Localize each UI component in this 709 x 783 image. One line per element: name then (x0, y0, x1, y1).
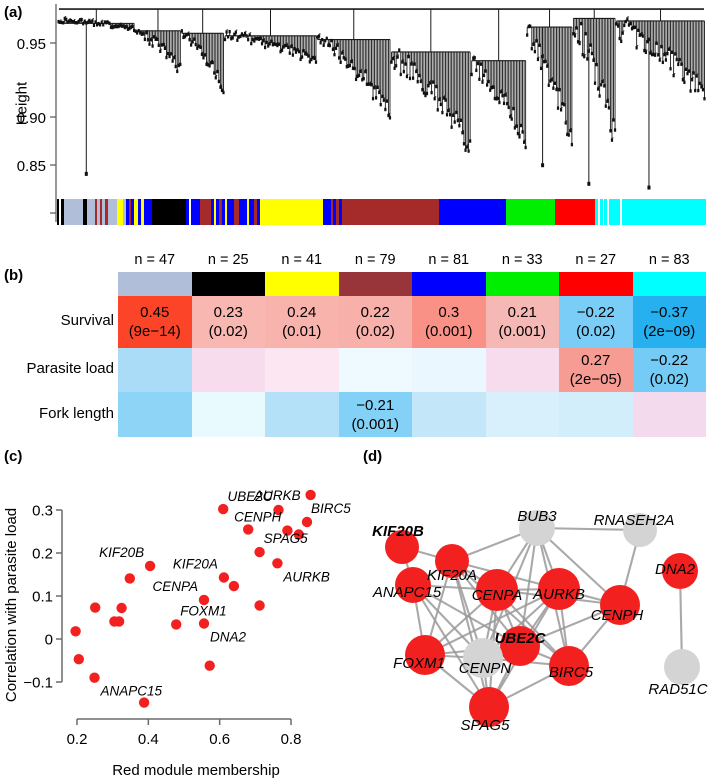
heatmap-cell-pvalue: (0.001) (498, 322, 546, 341)
heatmap-cell[interactable] (486, 392, 560, 437)
heatmap-cell[interactable]: 0.22(0.02) (339, 296, 413, 348)
scatter-gene-label: CENPA (152, 579, 198, 594)
heatmap-row-label: Survival (2, 312, 114, 329)
network-node-label: AURKB (532, 586, 585, 603)
heatmap-cell[interactable] (192, 348, 266, 392)
scatter-point[interactable] (171, 619, 181, 629)
module-color-segment (227, 199, 234, 225)
scatter-point[interactable] (114, 616, 124, 626)
module-color-bar (57, 199, 706, 225)
scatter-point[interactable] (70, 626, 80, 636)
heatmap-column-header: n = 33 (486, 250, 560, 272)
scatter-point[interactable] (229, 581, 239, 591)
heatmap-column-header: n = 47 (118, 250, 192, 272)
scatter-gene-label: FOXM1 (180, 603, 227, 618)
module-color-segment (108, 199, 118, 225)
scatter-point[interactable] (272, 558, 282, 568)
scatter-gene-label: UBE2C (227, 489, 272, 504)
heatmap-cell[interactable] (339, 348, 413, 392)
heatmap-cell[interactable]: 0.3(0.001) (412, 296, 486, 348)
scatter-point[interactable] (74, 654, 84, 664)
heatmap-cell[interactable]: −0.21(0.001) (339, 392, 413, 437)
heatmap-cell-pvalue: (0.02) (356, 322, 395, 341)
heatmap-cell[interactable]: 0.21(0.001) (486, 296, 560, 348)
heatmap-cell-correlation: −0.37 (650, 303, 688, 322)
module-color-segment (191, 199, 201, 225)
scatter-point[interactable] (90, 602, 100, 612)
heatmap-cell-correlation: 0.27 (581, 351, 610, 370)
heatmap-module-swatch-yellow (265, 272, 339, 296)
heatmap-row-label: Parasite load (2, 360, 114, 377)
heatmap-grid: 0.45(9e−14)0.23(0.02)0.24(0.01)0.22(0.02… (118, 296, 706, 437)
scatter-gene-label: KIF20B (99, 545, 144, 560)
heatmap-module-swatch-green (486, 272, 560, 296)
scatter-point[interactable] (302, 517, 312, 527)
heatmap-cell-pvalue: (0.02) (650, 370, 689, 389)
network-node-label: DNA2 (655, 561, 696, 578)
module-color-segment (260, 199, 323, 225)
heatmap-cell-correlation: −0.22 (650, 351, 688, 370)
scatter-xtick-label: 0.6 (209, 731, 230, 748)
heatmap-module-swatch-lightsteelblue (118, 272, 192, 296)
scatter-point[interactable] (243, 524, 253, 534)
heatmap-column-header: n = 79 (339, 250, 413, 272)
scatter-point[interactable] (145, 561, 155, 571)
scatter-point[interactable] (254, 547, 264, 557)
heatmap-cell[interactable]: 0.23(0.02) (192, 296, 266, 348)
network-node-label: BIRC5 (549, 664, 594, 681)
module-color-segment (200, 199, 210, 225)
scatter-point[interactable] (305, 490, 315, 500)
scatter-point[interactable] (199, 618, 209, 628)
network-node-label: CENPH (591, 607, 644, 624)
panel-c-scatter: (c) −0.100.10.20.30.20.40.60.8 AURKBUBE2… (0, 445, 355, 783)
network-node-label: FOXM1 (393, 655, 445, 672)
module-color-segment (144, 199, 152, 225)
heatmap-cell[interactable] (265, 392, 339, 437)
network-node-RAD51C[interactable] (664, 649, 700, 685)
heatmap-row: 0.27(2e−05)−0.22(0.02) (118, 348, 706, 392)
scatter-plot: −0.100.10.20.30.20.40.60.8 AURKBUBE2CBIR… (0, 445, 355, 783)
scatter-xtick-label: 0.4 (138, 731, 159, 748)
heatmap-cell-correlation: 0.45 (140, 303, 169, 322)
scatter-point[interactable] (205, 661, 215, 671)
heatmap-cell[interactable] (486, 348, 560, 392)
heatmap-cell[interactable] (265, 348, 339, 392)
heatmap-column-header: n = 25 (192, 250, 266, 272)
panel-d-network: (d) KIF20BKIF20AANAPC15CENPABUB3AURKBRNA… (355, 445, 709, 783)
heatmap-cell[interactable] (412, 392, 486, 437)
heatmap-column-headers: n = 47n = 25n = 41n = 79n = 81n = 33n = … (118, 250, 706, 272)
heatmap-cell[interactable]: −0.22(0.02) (559, 296, 633, 348)
heatmap-cell[interactable] (118, 392, 192, 437)
heatmap-cell[interactable] (192, 392, 266, 437)
heatmap-row-label: Fork length (2, 405, 114, 422)
heatmap-cell-pvalue: (0.001) (425, 322, 473, 341)
module-color-segment (609, 199, 620, 225)
network-node-label: RAD51C (648, 681, 707, 698)
heatmap-cell-pvalue: (0.02) (576, 322, 615, 341)
heatmap-cell-correlation: 0.3 (438, 303, 459, 322)
network-node-label: KIF20A (427, 567, 477, 584)
scatter-point[interactable] (218, 504, 228, 514)
heatmap-cell-pvalue: (0.01) (282, 322, 321, 341)
heatmap-row: 0.45(9e−14)0.23(0.02)0.24(0.01)0.22(0.02… (118, 296, 706, 348)
network-node-label: CENPA (472, 587, 523, 604)
scatter-gene-label: ANAPC15 (100, 684, 163, 699)
network-node-label: SPAG5 (461, 717, 511, 734)
network-node-label: UBE2C (495, 630, 547, 647)
heatmap-cell-pvalue: (2e−05) (570, 370, 622, 389)
module-color-segment (439, 199, 506, 225)
module-color-segment (323, 199, 330, 225)
heatmap-cell-correlation: 0.21 (508, 303, 537, 322)
scatter-point-labels: AURKBUBE2CBIRC5CENPHSPAG5KIF20BAURKBKIF2… (99, 488, 351, 699)
heatmap-cell[interactable] (118, 348, 192, 392)
heatmap-module-swatch-red (559, 272, 633, 296)
scatter-point[interactable] (219, 572, 229, 582)
heatmap-cell[interactable] (633, 392, 707, 437)
scatter-ytick-label: −0.1 (23, 675, 53, 692)
scatter-gene-label: DNA2 (210, 630, 247, 645)
module-color-segment (342, 199, 439, 225)
scatter-ytick-label: 0 (45, 632, 53, 649)
heatmap-module-swatch-brown (339, 272, 413, 296)
network-node-label: BUB3 (517, 508, 557, 525)
heatmap-module-swatch-cyan (633, 272, 707, 296)
heatmap-column-header: n = 41 (265, 250, 339, 272)
heatmap-cell[interactable]: 0.45(9e−14) (118, 296, 192, 348)
panel-a-y-axis (50, 4, 56, 222)
heatmap-column-header: n = 81 (412, 250, 486, 272)
scatter-xtick-label: 0.8 (281, 731, 302, 748)
heatmap-cell[interactable] (412, 348, 486, 392)
scatter-gene-label: BIRC5 (311, 501, 351, 516)
network-node-label: ANAPC15 (372, 584, 442, 601)
scatter-ytick-label: 0.2 (32, 546, 53, 563)
scatter-gene-label: CENPH (234, 510, 282, 525)
heatmap-cell-pvalue: (2e−09) (643, 322, 695, 341)
heatmap-cell-pvalue: (0.02) (209, 322, 248, 341)
heatmap-cell-correlation: −0.22 (577, 303, 615, 322)
heatmap-cell[interactable]: 0.24(0.01) (265, 296, 339, 348)
module-color-segment (87, 199, 95, 225)
heatmap-column-header: n = 83 (633, 250, 707, 272)
heatmap-module-color-row (118, 272, 706, 296)
module-color-segment (506, 199, 556, 225)
scatter-y-axis-title: Correlation with parasite load (3, 508, 20, 702)
scatter-xtick-label: 0.2 (67, 731, 88, 748)
heatmap-column-header: n = 27 (559, 250, 633, 272)
heatmap-cell-pvalue: (9e−14) (129, 322, 181, 341)
heatmap-cell[interactable]: 0.27(2e−05) (559, 348, 633, 392)
scatter-axes: −0.100.10.20.30.20.40.60.8 (23, 503, 301, 749)
scatter-gene-label: AURKB (282, 569, 330, 584)
scatter-ytick-label: 0.1 (32, 589, 53, 606)
heatmap-cell-correlation: 0.22 (361, 303, 390, 322)
heatmap-cell-correlation: 0.23 (214, 303, 243, 322)
heatmap-cell-pvalue: (0.001) (351, 415, 399, 434)
panel-b-tag: (b) (4, 267, 23, 284)
scatter-point[interactable] (125, 573, 135, 583)
heatmap-cell[interactable]: −0.37(2e−09) (633, 296, 707, 348)
panel-a-dendrogram: (a) Height 0.95 0.90 0.85 (0, 0, 709, 245)
figure-root: (a) Height 0.95 0.90 0.85 (b) n = 47n = … (0, 0, 709, 783)
dendrogram-branches (57, 9, 705, 189)
heatmap-module-swatch-black (192, 272, 266, 296)
scatter-ytick-label: 0.3 (32, 503, 53, 520)
scatter-point[interactable] (139, 697, 149, 707)
network-graph: KIF20BKIF20AANAPC15CENPABUB3AURKBRNASEH2… (355, 445, 709, 783)
network-node-label: CENPN (459, 660, 512, 677)
heatmap-cell-correlation: 0.24 (287, 303, 316, 322)
module-color-segment (239, 199, 246, 225)
scatter-gene-label: SPAG5 (264, 531, 309, 546)
heatmap-cell-correlation: −0.21 (356, 396, 394, 415)
network-node-label: RNASEH2A (594, 512, 675, 529)
scatter-point[interactable] (116, 603, 126, 613)
scatter-x-axis-title: Red module membership (112, 762, 280, 779)
scatter-point[interactable] (89, 673, 99, 683)
network-node-label: KIF20B (372, 523, 424, 540)
scatter-gene-label: KIF20A (173, 557, 218, 572)
module-color-segment (622, 199, 706, 225)
module-color-segment (152, 199, 186, 225)
module-color-segment (555, 199, 595, 225)
heatmap-row: −0.21(0.001) (118, 392, 706, 437)
module-color-segment (64, 199, 83, 225)
heatmap-cell[interactable]: −0.22(0.02) (633, 348, 707, 392)
scatter-point[interactable] (254, 600, 264, 610)
heatmap-cell[interactable] (559, 392, 633, 437)
heatmap-module-swatch-blue (412, 272, 486, 296)
